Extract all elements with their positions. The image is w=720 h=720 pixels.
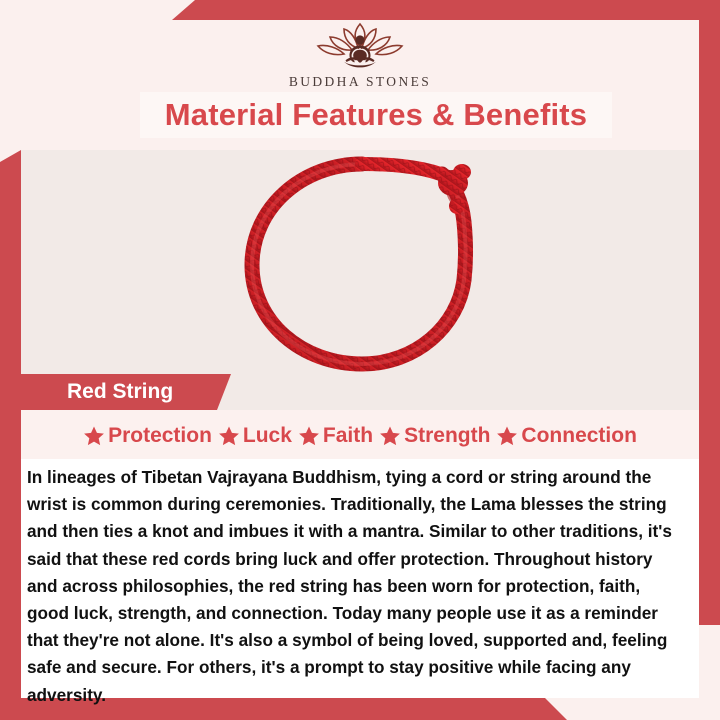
frame-right-accent-bar bbox=[699, 0, 720, 625]
product-tag: Red String bbox=[21, 374, 231, 410]
lotus-meditation-figure-icon bbox=[300, 18, 420, 72]
star-icon bbox=[218, 425, 240, 447]
feature-item: Connection bbox=[496, 424, 637, 448]
feature-list: Protection Luck Faith Strength Connectio bbox=[21, 414, 699, 458]
feature-label: Connection bbox=[521, 424, 637, 448]
star-icon bbox=[83, 425, 105, 447]
frame-left-accent-bar bbox=[0, 150, 21, 720]
star-icon bbox=[496, 425, 518, 447]
brand-name: BUDDHA STONES bbox=[289, 74, 431, 90]
description-card: In lineages of Tibetan Vajrayana Buddhis… bbox=[21, 459, 699, 698]
star-icon bbox=[379, 425, 401, 447]
feature-label: Strength bbox=[404, 424, 490, 448]
feature-label: Luck bbox=[243, 424, 292, 448]
feature-label: Faith bbox=[323, 424, 373, 448]
description-text: In lineages of Tibetan Vajrayana Buddhis… bbox=[27, 464, 685, 709]
brand-logo: BUDDHA STONES bbox=[0, 18, 720, 90]
feature-label: Protection bbox=[108, 424, 212, 448]
feature-item: Strength bbox=[379, 424, 490, 448]
feature-item: Faith bbox=[298, 424, 373, 448]
feature-item: Luck bbox=[218, 424, 292, 448]
page-title: Material Features & Benefits bbox=[165, 97, 588, 133]
product-image bbox=[21, 150, 699, 380]
infographic-page: BUDDHA STONES Material Features & Benefi… bbox=[0, 0, 720, 720]
star-icon bbox=[298, 425, 320, 447]
title-banner: Material Features & Benefits bbox=[140, 92, 612, 138]
product-tag-label: Red String bbox=[21, 380, 173, 404]
feature-item: Protection bbox=[83, 424, 212, 448]
frame-top-right-accent bbox=[0, 0, 720, 20]
red-braided-string-bracelet-icon bbox=[210, 150, 510, 380]
